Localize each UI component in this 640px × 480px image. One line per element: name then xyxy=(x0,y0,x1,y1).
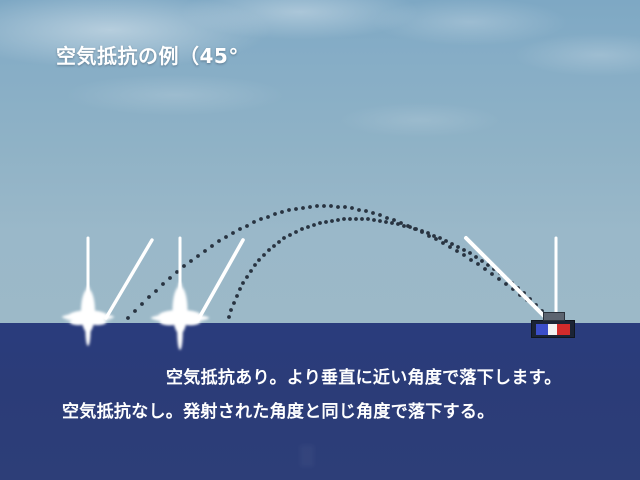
caption-with-drag: 空気抵抗あり。より垂直に近い角度で落下します。 xyxy=(166,363,562,388)
caption-without-drag: 空気抵抗なし。発射された角度と同じ角度で落下する。 xyxy=(62,397,495,422)
launcher[interactable] xyxy=(531,312,575,338)
trajectory-with-drag xyxy=(227,217,550,320)
splash-without-drag xyxy=(62,286,114,346)
guide-lines xyxy=(88,238,556,322)
impact-angle-line-nodrag xyxy=(106,240,152,318)
launcher-switch-blue[interactable] xyxy=(536,324,548,335)
launch-angle-line xyxy=(466,238,548,320)
simulation-scene: 空気抵抗の例（45° 空気抵抗あり。より垂直に近い角度で落下します。 空気抵抗な… xyxy=(0,0,640,480)
launcher-switch-red[interactable] xyxy=(557,324,570,335)
splash-with-drag xyxy=(151,282,209,350)
launcher-switch-white[interactable] xyxy=(548,324,557,335)
launcher-top-plate xyxy=(543,312,565,321)
page-title: 空気抵抗の例（45° xyxy=(56,40,239,69)
